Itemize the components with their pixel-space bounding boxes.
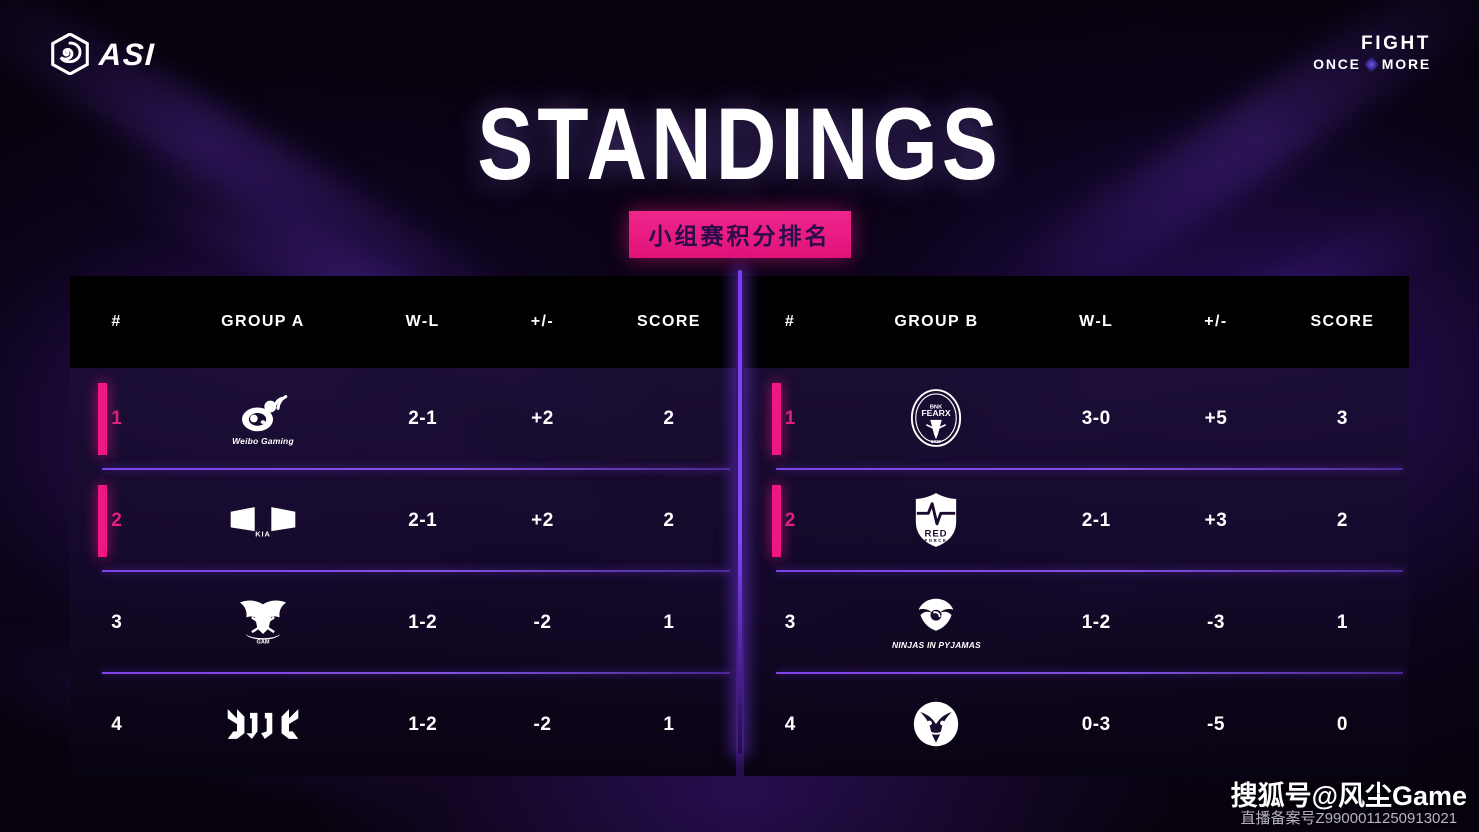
ninjas-in-pyjamas-logo: NINJAS IN PYJAMAS (899, 586, 973, 660)
team-cell: KIA (163, 484, 363, 558)
team-cell: BNK FEARX 2019 (837, 382, 1037, 456)
wl-value: 2-1 (363, 510, 483, 532)
gam-esports-logo: GAM (226, 586, 300, 660)
asi-wordmark: ASI (98, 39, 156, 70)
score-value: 2 (602, 510, 735, 532)
column-header-wl: W-L (1036, 313, 1156, 331)
team-cell (163, 688, 363, 762)
tagline-line-1: FIGHT (1313, 34, 1431, 55)
tagline-more: MORE (1382, 57, 1431, 72)
score-value: 2 (602, 408, 735, 430)
table-row[interactable]: 1 (70, 368, 736, 470)
rank-cell: 2 (70, 470, 163, 572)
column-header-group: GROUP B (837, 313, 1037, 331)
rank-value: 2 (111, 510, 122, 532)
column-header-group: GROUP A (163, 313, 363, 331)
rank-highlight-bar (98, 485, 107, 557)
pm-value: -5 (1156, 714, 1276, 736)
svg-text:FEARX: FEARX (922, 408, 952, 418)
table-row[interactable]: 2 RED FORCE 2-1 (744, 470, 1410, 572)
watermark-handle: 搜狐号@风尘Game (1231, 783, 1467, 810)
rank-cell: 2 (744, 470, 837, 572)
bnk-fearx-logo: BNK FEARX 2019 (899, 382, 973, 456)
standings-table-group-b: # GROUP B W-L +/- SCORE 1 (744, 276, 1410, 776)
wl-value: 1-2 (363, 612, 483, 634)
wl-value: 2-1 (1036, 510, 1156, 532)
weibo-gaming-logo: Weibo Gaming (226, 382, 300, 456)
pm-value: -2 (483, 612, 603, 634)
rank-cell: 4 (70, 674, 163, 776)
table-row[interactable]: 4 1-2 -2 (70, 674, 736, 776)
standings-boards: # GROUP A W-L +/- SCORE 1 (70, 276, 1409, 776)
team-cell: RED FORCE (837, 484, 1037, 558)
watermark-license: 直播备案号Z9900011250913021 (1231, 811, 1467, 826)
team-caption: Weibo Gaming (232, 436, 294, 446)
column-header-wl: W-L (363, 313, 483, 331)
table-row[interactable]: 4 (744, 674, 1410, 776)
table-row[interactable]: 1 BNK FEARX 2019 (744, 368, 1410, 470)
rank-cell: 3 (744, 572, 837, 674)
table-row[interactable]: 3 GAM (70, 572, 736, 674)
svg-text:GAM: GAM (256, 639, 269, 645)
rank-value: 3 (785, 612, 796, 634)
pm-value: +3 (1156, 510, 1276, 532)
column-header-rank: # (70, 276, 163, 368)
dplus-kia-logo: KIA (226, 484, 300, 558)
team-cell: Weibo Gaming (163, 382, 363, 456)
team-whales-logo (899, 688, 973, 762)
rank-value: 2 (785, 510, 796, 532)
panel-divider (736, 276, 744, 776)
rank-highlight-bar (98, 383, 107, 455)
score-value: 2 (1276, 510, 1409, 532)
standings-table-group-a: # GROUP A W-L +/- SCORE 1 (70, 276, 736, 776)
pm-value: +5 (1156, 408, 1276, 430)
score-value: 0 (1276, 714, 1409, 736)
channel-watermark: 搜狐号@风尘Game 直播备案号Z9900011250913021 (1231, 783, 1467, 826)
rank-cell: 1 (744, 368, 837, 470)
asi-swirl-icon (50, 33, 90, 75)
page-subtitle-banner: 小组赛积分排名 (629, 211, 851, 258)
rank-highlight-bar (772, 383, 781, 455)
team-cell: NINJAS IN PYJAMAS (837, 586, 1037, 660)
wl-value: 2-1 (363, 408, 483, 430)
svg-text:2019: 2019 (932, 439, 942, 444)
table-row[interactable]: 3 NINJAS IN PYJAMAS 1-2 -3 (744, 572, 1410, 674)
table-body-group-a: 1 (70, 368, 736, 776)
asi-logo: ASI (50, 33, 155, 75)
rank-value: 1 (785, 408, 796, 430)
wl-value: 3-0 (1036, 408, 1156, 430)
score-value: 1 (602, 612, 735, 634)
redforce-logo: RED FORCE (899, 484, 973, 558)
score-value: 1 (602, 714, 735, 736)
team-caption: NINJAS IN PYJAMAS (892, 640, 981, 650)
column-header-rank: # (744, 276, 837, 368)
svg-text:FORCE: FORCE (925, 538, 948, 543)
broadcast-stage: ASI FIGHT ONCE MORE STANDINGS 小组赛积分排名 # … (0, 0, 1479, 832)
rank-value: 4 (111, 714, 122, 736)
wl-value: 1-2 (363, 714, 483, 736)
pm-value: +2 (483, 510, 603, 532)
table-header-group-a: # GROUP A W-L +/- SCORE (70, 276, 736, 368)
tagline-line-2: ONCE MORE (1313, 57, 1431, 72)
column-header-pm: +/- (1156, 313, 1276, 331)
rank-value: 4 (785, 714, 796, 736)
pm-value: -2 (483, 714, 603, 736)
wl-value: 0-3 (1036, 714, 1156, 736)
column-header-score: SCORE (602, 313, 735, 331)
team-cell: GAM (163, 586, 363, 660)
tagline-once: ONCE (1313, 57, 1361, 72)
rank-value: 3 (111, 612, 122, 634)
page-title-block: STANDINGS 小组赛积分排名 (0, 96, 1479, 258)
svg-text:KIA: KIA (255, 530, 270, 539)
rank-cell: 4 (744, 674, 837, 776)
rank-highlight-bar (772, 485, 781, 557)
column-header-score: SCORE (1276, 313, 1409, 331)
jd-gaming-logo (226, 688, 300, 762)
column-header-pm: +/- (483, 313, 603, 331)
rank-value: 1 (111, 408, 122, 430)
table-row[interactable]: 2 KIA (70, 470, 736, 572)
rank-cell: 1 (70, 368, 163, 470)
table-header-group-b: # GROUP B W-L +/- SCORE (744, 276, 1410, 368)
table-body-group-b: 1 BNK FEARX 2019 (744, 368, 1410, 776)
event-tagline: FIGHT ONCE MORE (1313, 34, 1431, 72)
score-value: 1 (1276, 612, 1409, 634)
page-title: STANDINGS (0, 96, 1479, 192)
team-cell (837, 688, 1037, 762)
wl-value: 1-2 (1036, 612, 1156, 634)
rank-cell: 3 (70, 572, 163, 674)
pm-value: -3 (1156, 612, 1276, 634)
score-value: 3 (1276, 408, 1409, 430)
pm-value: +2 (483, 408, 603, 430)
diamond-icon (1364, 56, 1380, 72)
